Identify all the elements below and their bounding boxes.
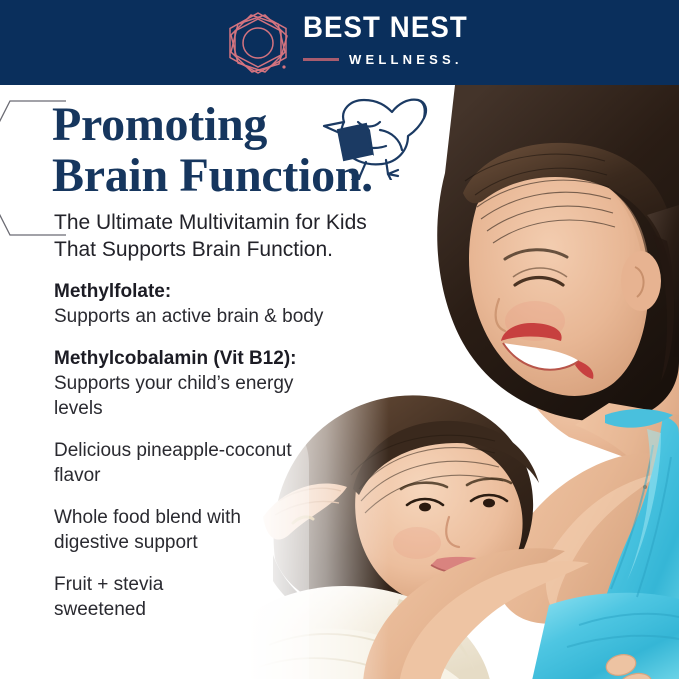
benefit-item: Delicious pineapple-coconut flavor xyxy=(54,438,384,488)
benefit-title: Methylcobalamin (Vit B12): xyxy=(54,346,384,371)
brand-header-bar: BEST NEST WELLNESS. xyxy=(0,0,679,85)
benefit-body: Supports an active brain & body xyxy=(54,304,384,329)
brand-logo-group: BEST NEST WELLNESS. xyxy=(225,9,475,77)
benefit-item: Whole food blend with digestive support xyxy=(54,505,384,555)
brand-wordmark: BEST NEST WELLNESS. xyxy=(303,9,483,77)
benefit-item: Methylcobalamin (Vit B12): Supports your… xyxy=(54,346,384,421)
page-headline: Promoting Brain Function. xyxy=(52,99,442,201)
benefit-title: Methylfolate: xyxy=(54,279,384,304)
brand-dash-icon xyxy=(303,58,339,61)
benefit-body: Supports your child’s energy levels xyxy=(54,371,384,421)
benefits-list: Methylfolate: Supports an active brain &… xyxy=(54,279,384,639)
benefit-item: Methylfolate: Supports an active brain &… xyxy=(54,279,384,329)
hexagon-nest-logo-icon xyxy=(225,11,291,75)
benefit-body: Fruit + stevia sweetened xyxy=(54,572,384,622)
product-infographic: BEST NEST WELLNESS. xyxy=(0,0,679,679)
brand-subtitle-text: WELLNESS. xyxy=(349,53,463,66)
marketing-copy-column: Promoting Brain Function. The Ultimate M… xyxy=(0,85,440,679)
page-subheading: The Ultimate Multivitamin for Kids That … xyxy=(54,209,414,263)
brand-subtitle-row: WELLNESS. xyxy=(303,53,463,66)
brand-name-text: BEST NEST xyxy=(303,13,468,43)
benefit-body: Delicious pineapple-coconut flavor xyxy=(54,438,384,488)
benefit-body: Whole food blend with digestive support xyxy=(54,505,384,555)
benefit-item: Fruit + stevia sweetened xyxy=(54,572,384,622)
